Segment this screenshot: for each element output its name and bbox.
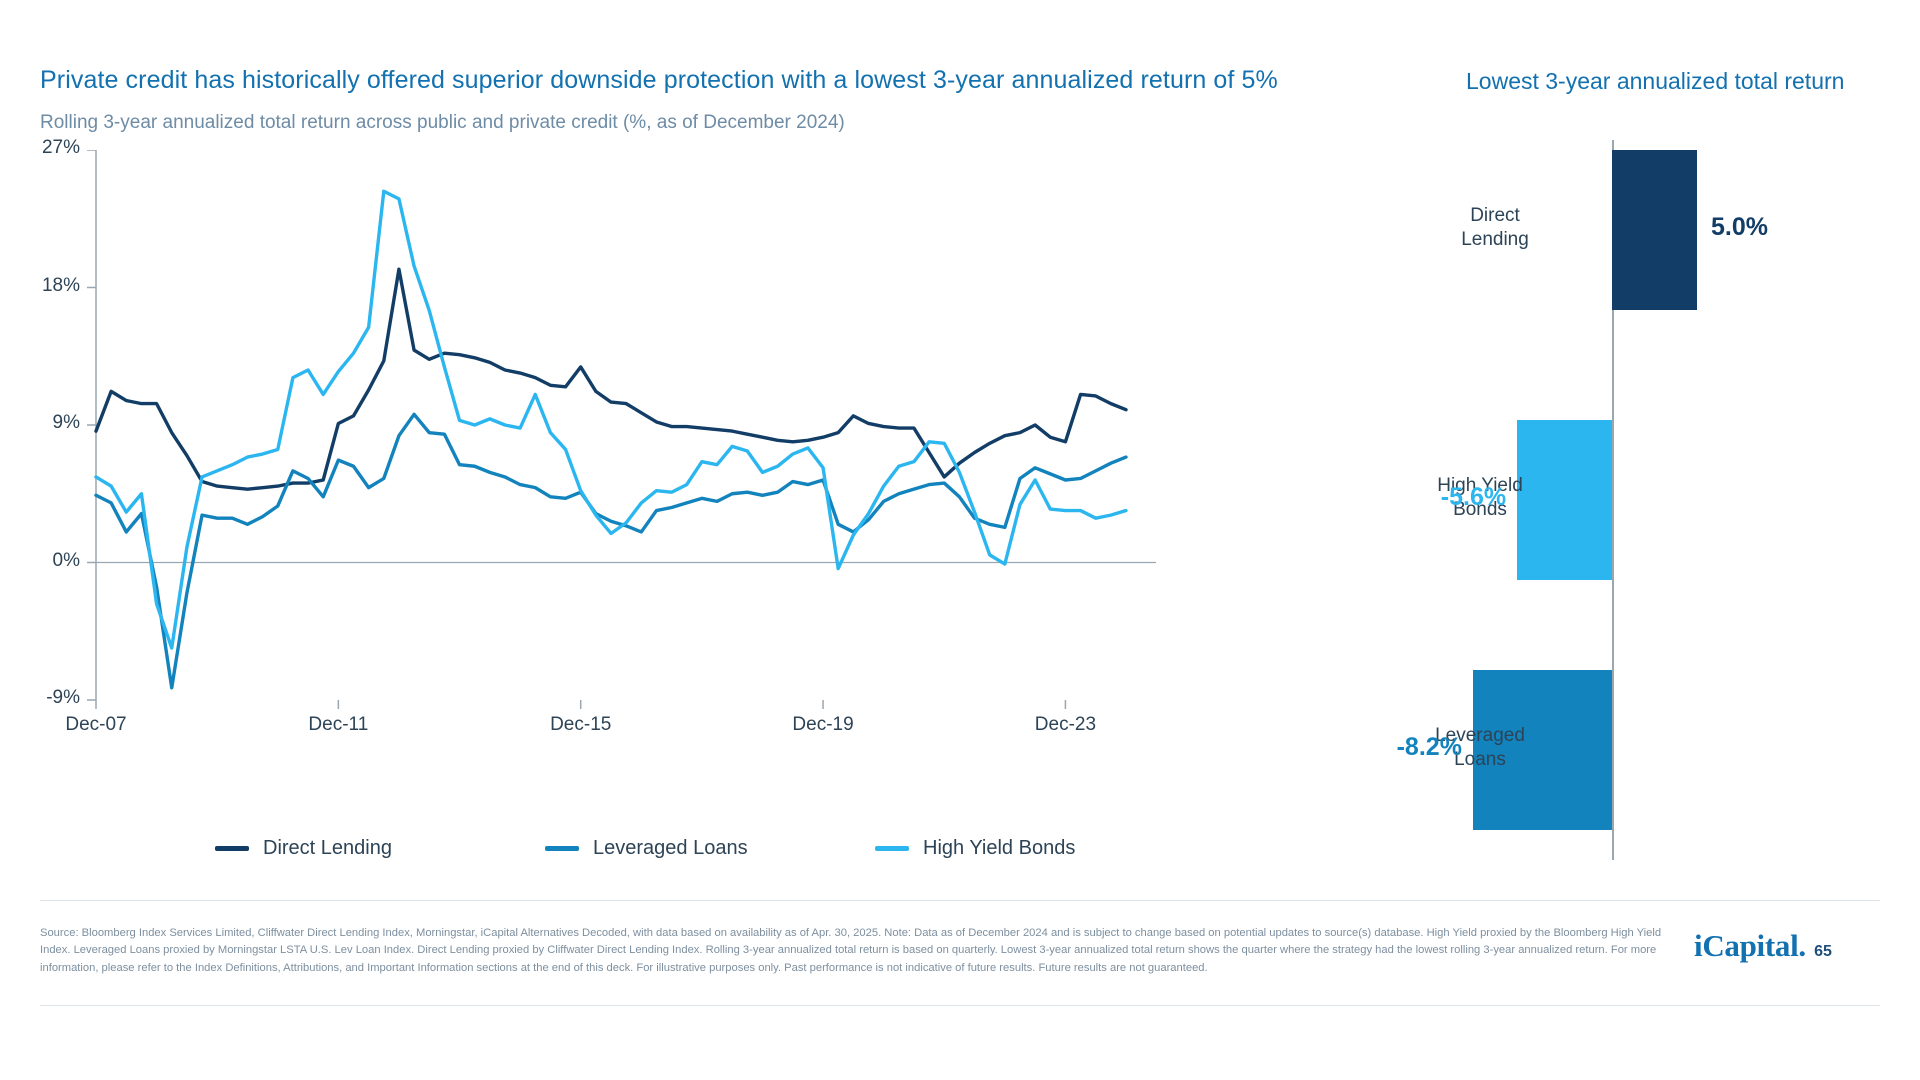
rolling-returns-line-chart: 27%18%9%0%-9%Dec-07Dec-11Dec-15Dec-19Dec…	[36, 150, 1356, 830]
bar-direct-lending[interactable]	[1612, 150, 1697, 310]
footer-divider-top	[40, 900, 1880, 901]
legend-swatch-icon	[545, 846, 579, 851]
legend-item-high-yield-bonds[interactable]: High Yield Bonds	[875, 833, 1075, 863]
chart-legend: Direct LendingLeveraged LoansHigh Yield …	[215, 833, 1215, 869]
logo-period: .	[1798, 928, 1806, 964]
y-axis-tick-label: -9%	[10, 687, 80, 709]
y-axis-tick-label: 0%	[10, 550, 80, 572]
icapital-logo: iCapital . 65	[1694, 928, 1832, 964]
footer-divider-bottom	[40, 1005, 1880, 1006]
x-axis-tick-label: Dec-07	[36, 714, 156, 736]
bar-category-label: Direct Lending	[1420, 204, 1570, 252]
page-number: 65	[1814, 943, 1832, 961]
line-chart-svg	[36, 150, 1356, 830]
x-axis-tick-label: Dec-19	[763, 714, 883, 736]
legend-swatch-icon	[215, 846, 249, 851]
legend-label: High Yield Bonds	[923, 837, 1075, 860]
x-axis-tick-label: Dec-23	[1005, 714, 1125, 736]
legend-swatch-icon	[875, 846, 909, 851]
x-axis-tick-label: Dec-11	[278, 714, 398, 736]
source-footnote: Source: Bloomberg Index Services Limited…	[40, 925, 1670, 977]
legend-label: Direct Lending	[263, 837, 392, 860]
bar-value-label: -5.6%	[1441, 483, 1506, 512]
y-axis-tick-label: 18%	[10, 275, 80, 297]
x-axis-tick-label: Dec-15	[521, 714, 641, 736]
legend-label: Leveraged Loans	[593, 837, 748, 860]
bar-value-label: 5.0%	[1711, 213, 1768, 242]
y-axis-tick-label: 27%	[10, 137, 80, 159]
legend-item-leveraged-loans[interactable]: Leveraged Loans	[545, 833, 748, 863]
bar-value-label: -8.2%	[1397, 733, 1462, 762]
series-line-high-yield-bonds	[96, 191, 1126, 648]
page-subtitle: Rolling 3-year annualized total return a…	[40, 112, 845, 134]
lowest-return-bar-chart: Direct Lending5.0%High Yield Bonds-5.6%L…	[1400, 140, 1900, 880]
right-panel-title: Lowest 3-year annualized total return	[1466, 68, 1844, 95]
slide-root: Private credit has historically offered …	[0, 0, 1920, 1080]
logo-wordmark: iCapital	[1694, 928, 1798, 964]
legend-item-direct-lending[interactable]: Direct Lending	[215, 833, 392, 863]
y-axis-tick-label: 9%	[10, 412, 80, 434]
page-title: Private credit has historically offered …	[40, 66, 1278, 95]
